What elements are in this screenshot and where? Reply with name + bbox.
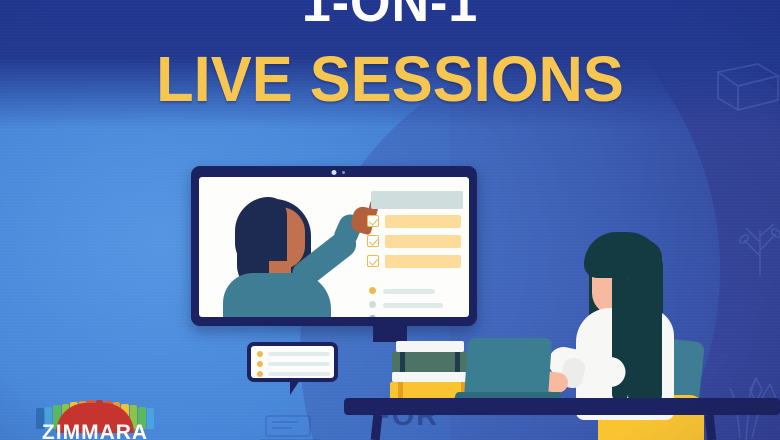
poster-canvas: 1-ON-1 LIVE SESSIONS (0, 0, 780, 440)
vignette-overlay (0, 0, 780, 440)
